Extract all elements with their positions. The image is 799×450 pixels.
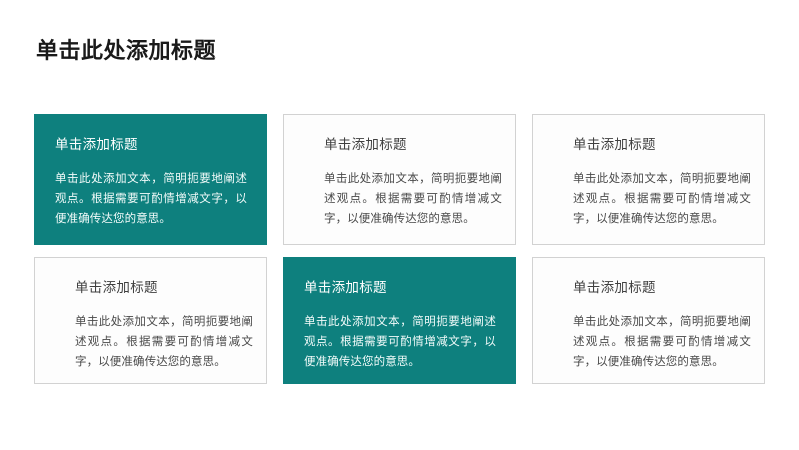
card-title-2[interactable]: 单击添加标题 — [324, 135, 501, 155]
card-body-5[interactable]: 单击此处添加文本，简明扼要地阐述观点。根据需要可酌情增减文字，以便准确传达您的意… — [304, 312, 496, 372]
content-card-3[interactable]: 单击添加标题 单击此处添加文本，简明扼要地阐述观点。根据需要可酌情增减文字，以便… — [532, 114, 765, 245]
content-card-5[interactable]: 单击添加标题 单击此处添加文本，简明扼要地阐述观点。根据需要可酌情增减文字，以便… — [283, 257, 516, 384]
card-body-6[interactable]: 单击此处添加文本，简明扼要地阐述观点。根据需要可酌情增减文字，以便准确传达您的意… — [573, 312, 751, 372]
card-inner-1: 单击添加标题 单击此处添加文本，简明扼要地阐述观点。根据需要可酌情增减文字，以便… — [35, 115, 266, 244]
content-card-2[interactable]: 单击添加标题 单击此处添加文本，简明扼要地阐述观点。根据需要可酌情增减文字，以便… — [283, 114, 516, 245]
card-inner-2: 单击添加标题 单击此处添加文本，简明扼要地阐述观点。根据需要可酌情增减文字，以便… — [284, 115, 515, 244]
page-title[interactable]: 单击此处添加标题 — [36, 36, 216, 66]
card-inner-4: 单击添加标题 单击此处添加文本，简明扼要地阐述观点。根据需要可酌情增减文字，以便… — [35, 258, 266, 383]
card-title-3[interactable]: 单击添加标题 — [573, 135, 750, 155]
card-title-6[interactable]: 单击添加标题 — [573, 278, 750, 298]
content-card-1[interactable]: 单击添加标题 单击此处添加文本，简明扼要地阐述观点。根据需要可酌情增减文字，以便… — [34, 114, 267, 245]
content-card-6[interactable]: 单击添加标题 单击此处添加文本，简明扼要地阐述观点。根据需要可酌情增减文字，以便… — [532, 257, 765, 384]
card-body-1[interactable]: 单击此处添加文本，简明扼要地阐述观点。根据需要可酌情增减文字，以便准确传达您的意… — [55, 169, 247, 229]
card-inner-3: 单击添加标题 单击此处添加文本，简明扼要地阐述观点。根据需要可酌情增减文字，以便… — [533, 115, 764, 244]
card-body-4[interactable]: 单击此处添加文本，简明扼要地阐述观点。根据需要可酌情增减文字，以便准确传达您的意… — [75, 312, 253, 372]
card-title-5[interactable]: 单击添加标题 — [304, 278, 501, 298]
card-title-4[interactable]: 单击添加标题 — [75, 278, 252, 298]
card-inner-6: 单击添加标题 单击此处添加文本，简明扼要地阐述观点。根据需要可酌情增减文字，以便… — [533, 258, 764, 383]
card-title-1[interactable]: 单击添加标题 — [55, 135, 252, 155]
card-grid: 单击添加标题 单击此处添加文本，简明扼要地阐述观点。根据需要可酌情增减文字，以便… — [34, 114, 765, 384]
card-body-3[interactable]: 单击此处添加文本，简明扼要地阐述观点。根据需要可酌情增减文字，以便准确传达您的意… — [573, 169, 751, 229]
card-body-2[interactable]: 单击此处添加文本，简明扼要地阐述观点。根据需要可酌情增减文字，以便准确传达您的意… — [324, 169, 502, 229]
slide-canvas: 单击此处添加标题 单击添加标题 单击此处添加文本，简明扼要地阐述观点。根据需要可… — [0, 0, 799, 450]
content-card-4[interactable]: 单击添加标题 单击此处添加文本，简明扼要地阐述观点。根据需要可酌情增减文字，以便… — [34, 257, 267, 384]
card-inner-5: 单击添加标题 单击此处添加文本，简明扼要地阐述观点。根据需要可酌情增减文字，以便… — [284, 258, 515, 383]
